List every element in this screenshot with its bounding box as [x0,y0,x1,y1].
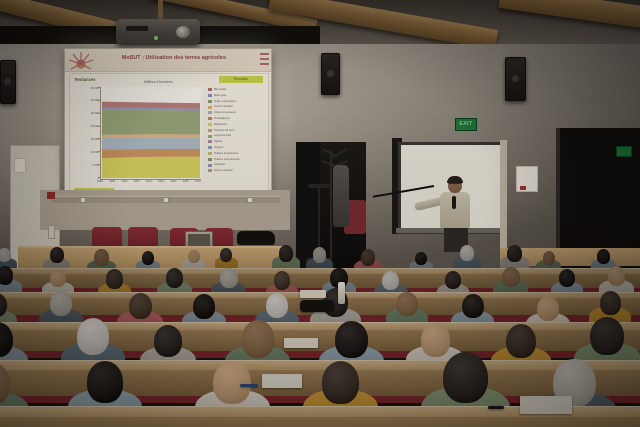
projector-lens [176,26,190,38]
audience-member-head [129,293,152,319]
desk-front [0,274,640,288]
chart-axis-label: Milliers d'hectares [144,80,173,84]
legend-label: Orge / escourgeon [214,100,236,103]
audience-member-head [543,251,556,265]
notebook [262,374,302,388]
audience-member-head [0,248,11,262]
audience-member-head [507,245,521,261]
audience-member-head [106,269,123,288]
audience-member-head [445,271,461,289]
slide-body: Tendances Milliers d'hectares Résultats … [69,73,269,195]
legend-label: Prairies permanentes [214,158,240,161]
legend-label: Blé tendre [214,88,226,91]
laptop-screen [188,234,210,246]
slide-title: MoSUT : Utilisation des terres agricoles [99,54,249,62]
legend-swatch [208,158,212,161]
audience-member-head [142,251,154,265]
audience-member-head [462,294,484,319]
presenter-hair [447,176,463,183]
y-tick-label: 20 000 [81,124,99,128]
legend-label: Jachères [214,163,225,166]
door-notice [14,158,26,173]
audience-member-head [220,248,232,261]
legend-item: Prairies temporaires [208,152,266,155]
x-tick-label: 2005 [134,180,140,183]
legend-swatch [208,169,212,172]
legend-item: Colza et tournesol [208,111,266,114]
audience-member-head [274,271,290,289]
x-tick-label: 2010 [146,180,152,183]
legend-item: Légumes frais [208,134,266,137]
legend-swatch [208,94,212,97]
legend-label: Protéagineux [214,117,230,120]
x-tick-label: 2015 [158,180,164,183]
legend-swatch [208,111,212,114]
audience-member-head [166,268,184,288]
legend-swatch [208,146,212,149]
audience-member-head [154,325,182,357]
audience-member-head [396,292,417,316]
exit-sign-label: EXIT [456,119,476,130]
x-tick-label: 2025 [183,180,189,183]
legend-item: Orge / escourgeon [208,100,266,103]
audience-member-head [188,250,200,263]
audience-member-head [193,294,215,319]
audience-member-head [597,249,610,264]
y-tick-mark [98,126,101,127]
audience-member-head [600,291,621,315]
x-tick-label: 2030 [195,180,201,183]
slide-tag: Résultats [219,76,263,83]
audience-member-head [313,247,327,262]
speaker-center [321,53,340,95]
screen-clip [247,197,253,203]
water-bottle [338,282,345,304]
legend-label: Maïs grain [214,94,227,97]
slide-tag-label: Résultats [219,76,263,83]
pen [488,406,504,409]
audience-member-head [506,324,536,358]
audience-member-head [502,267,520,287]
audience-member-head [242,320,275,357]
legend-label: Autres céréales [214,105,233,108]
legend-item: Prairies permanentes [208,158,266,161]
wall-switch-panel[interactable] [48,225,55,239]
slide-header: MoSUT : Utilisation des terres agricoles [65,49,271,72]
y-tick-label: 25 000 [81,111,99,115]
projection-screen: MoSUT : Utilisation des terres agricoles… [64,48,272,198]
legend-swatch [208,123,212,126]
lecture-hall-photo: MoSUT : Utilisation des terres agricoles… [0,0,640,427]
audience-member-head [77,318,109,355]
legend-swatch [208,152,212,155]
projector-vent [126,26,148,31]
legend-item: Pommes de terre [208,129,266,132]
screen-clip [80,197,86,203]
audience-member-head [50,247,64,263]
legend-item: Autres surfaces [208,169,266,172]
y-tick-mark [98,100,101,101]
legend-item: Betteraves [208,123,266,126]
y-tick-mark [98,177,101,178]
papers [300,290,326,298]
pen [240,384,258,387]
legend-swatch [208,140,212,143]
legend-label: Légumes frais [214,134,231,137]
audience-member-head [460,245,474,261]
audience-member-head [87,361,124,403]
audience-member-head [443,352,488,403]
speaker-left [0,60,16,104]
audience-member-head [50,269,66,287]
audience-member-head [50,291,72,316]
legend-item: Maïs grain [208,94,266,97]
legend-swatch [208,117,212,120]
legend-label: Vignes [214,140,222,143]
audience-member-head [266,293,288,318]
hanging-coat [333,165,349,227]
x-tick-label: 2020 [171,180,177,183]
x-tick-label: 1990 [97,180,103,183]
y-tick-label: 10 000 [81,150,99,154]
legend-item: Vergers [208,146,266,149]
mic-stand-top [308,184,330,188]
y-tick-mark [98,113,101,114]
legend-swatch [208,135,212,138]
y-tick-mark [98,164,101,165]
audience-member-head [421,323,450,357]
presentation-slide: MoSUT : Utilisation des terres agricoles… [65,49,271,197]
projector-led [154,36,158,40]
stacked-area-chart: 35 000 30 000 25 000 20 000 15 000 10 00… [100,87,201,180]
audience-member-head [608,266,626,286]
speaker-right [505,57,526,101]
y-tick-mark [98,151,101,152]
audience-member-head [213,361,251,404]
legend-item: Vignes [208,140,266,143]
x-tick-label: 2000 [122,180,128,183]
audience-member-head [537,296,559,322]
y-tick-label: 30 000 [81,98,99,102]
audience-member-head [590,317,623,355]
y-tick-label: 0 [81,176,99,180]
audience-member-head [559,269,575,287]
x-tick-label: 1995 [109,180,115,183]
desk-front [0,417,640,427]
wall-pillar [500,140,507,260]
microphone [452,196,456,209]
legend-label: Vergers [214,146,223,149]
y-tick-mark [98,138,101,139]
legend-swatch [208,164,212,167]
audience-member-head [279,245,293,261]
bag [300,300,334,312]
legend-label: Prairies temporaires [214,152,238,155]
exit-sign: EXIT [455,118,477,131]
legend-item: Blé tendre [208,88,266,91]
wall-notice-badge [520,186,526,190]
chart-plot-area [102,88,200,178]
y-tick-label: 5 000 [81,163,99,167]
legend-item: Jachères [208,163,266,166]
legend-swatch [208,100,212,103]
legend-swatch [208,106,212,109]
audience-member-head [220,268,238,288]
legend-label: Pommes de terre [214,129,235,132]
bag [237,231,275,245]
audience-member-head [382,271,399,290]
chart-legend: Blé tendre Maïs grain Orge / escourgeon … [208,88,266,175]
slide-subtitle: Tendances [74,77,96,82]
legend-label: Colza et tournesol [214,111,236,114]
sunflower-logo [68,51,96,70]
papers [284,338,318,348]
legend-item: Protéagineux [208,117,266,120]
legend-item: Autres céréales [208,105,266,108]
wall-fire-alarm [47,192,55,199]
y-tick-label: 35 000 [81,86,99,90]
legend-label: Betteraves [214,123,227,126]
audience-member-head [335,321,367,358]
legend-swatch [208,129,212,132]
audience-member-head [322,361,359,403]
exit-sign-secondary [616,146,632,157]
notebook [520,396,572,414]
legend-label: Autres surfaces [214,169,233,172]
audience-member-head [361,249,375,265]
screen-clip [163,197,169,203]
y-tick-label: 15 000 [81,137,99,141]
audience-member-head [94,249,109,266]
legend-swatch [208,88,212,91]
y-tick-mark [98,87,101,88]
